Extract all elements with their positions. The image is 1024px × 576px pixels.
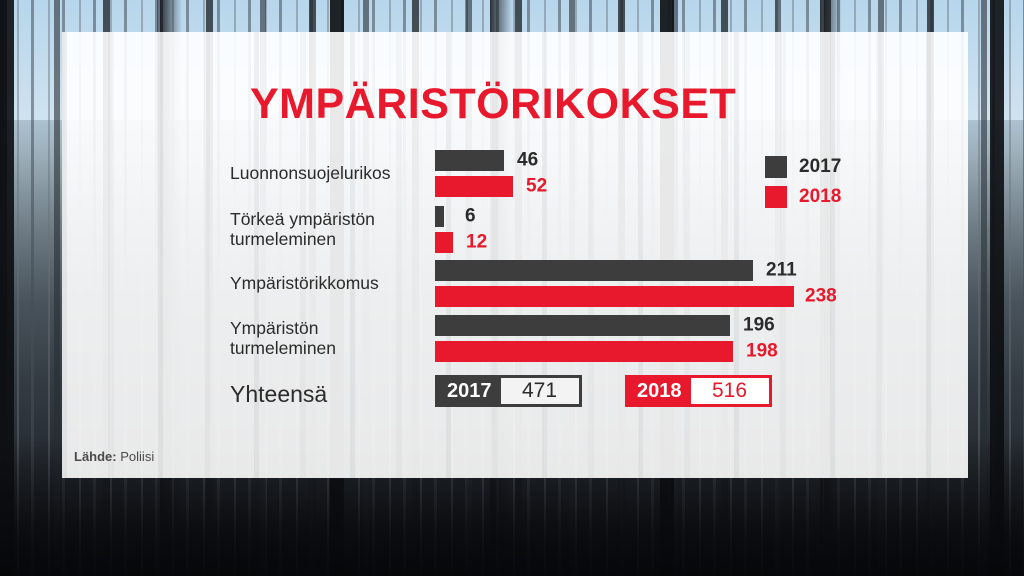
infographic-stage: YMPÄRISTÖRIKOKSET 2017 2018 Luonnonsuoje… bbox=[0, 0, 1024, 576]
chart-row: Törkeä ympäristön turmeleminen 6 12 bbox=[62, 206, 968, 260]
bar-2018 bbox=[435, 232, 453, 253]
total-badge-year-2017: 2017 bbox=[438, 378, 501, 404]
chart-row: Ympäristön turmeleminen 196 198 bbox=[62, 315, 968, 369]
bar-value-2017: 196 bbox=[743, 314, 775, 336]
bar-2017 bbox=[435, 260, 753, 281]
bar-2018 bbox=[435, 341, 733, 362]
category-label-line1: Törkeä ympäristön bbox=[230, 210, 430, 230]
category-label-line1: Ympäristön bbox=[230, 319, 430, 339]
bar-value-2018: 52 bbox=[526, 175, 547, 197]
bar-value-2018: 238 bbox=[805, 285, 837, 307]
bar-2017 bbox=[435, 206, 444, 227]
total-badge-2017: 2017 471 bbox=[435, 375, 582, 407]
bar-value-2018: 12 bbox=[466, 231, 487, 253]
category-label-line2: turmeleminen bbox=[230, 339, 430, 359]
category-label: Ympäristön turmeleminen bbox=[230, 319, 430, 358]
chart-row: Luonnonsuojelurikos 46 52 bbox=[62, 150, 968, 204]
bar-value-2018: 198 bbox=[746, 340, 778, 362]
panel-content: YMPÄRISTÖRIKOKSET 2017 2018 Luonnonsuoje… bbox=[62, 32, 968, 478]
chart-row: Ympäristörikkomus 211 238 bbox=[62, 260, 968, 314]
source-note: Lähde: Poliisi bbox=[74, 449, 154, 464]
category-label: Luonnonsuojelurikos bbox=[230, 164, 430, 184]
total-row: Yhteensä 2017 471 2018 516 bbox=[62, 375, 968, 415]
source-label: Lähde: bbox=[74, 449, 117, 464]
category-label: Ympäristörikkomus bbox=[230, 274, 430, 294]
source-value: Poliisi bbox=[120, 449, 154, 464]
bar-value-2017: 6 bbox=[465, 205, 476, 227]
category-label-line1: Luonnonsuojelurikos bbox=[230, 164, 430, 184]
total-label: Yhteensä bbox=[230, 381, 327, 408]
category-label-line1: Ympäristörikkomus bbox=[230, 274, 430, 294]
bar-2017 bbox=[435, 315, 730, 336]
infographic-panel: YMPÄRISTÖRIKOKSET 2017 2018 Luonnonsuoje… bbox=[62, 32, 968, 478]
category-label: Törkeä ympäristön turmeleminen bbox=[230, 210, 430, 249]
bar-2018 bbox=[435, 286, 794, 307]
total-badge-value-2018: 516 bbox=[691, 378, 769, 404]
category-label-line2: turmeleminen bbox=[230, 230, 430, 250]
bar-2018 bbox=[435, 176, 513, 197]
page-title: YMPÄRISTÖRIKOKSET bbox=[250, 80, 736, 129]
bar-2017 bbox=[435, 150, 504, 171]
bar-value-2017: 46 bbox=[517, 149, 538, 171]
total-badge-value-2017: 471 bbox=[501, 378, 579, 404]
total-badge-year-2018: 2018 bbox=[628, 378, 691, 404]
total-badge-2018: 2018 516 bbox=[625, 375, 772, 407]
bar-value-2017: 211 bbox=[766, 259, 797, 281]
